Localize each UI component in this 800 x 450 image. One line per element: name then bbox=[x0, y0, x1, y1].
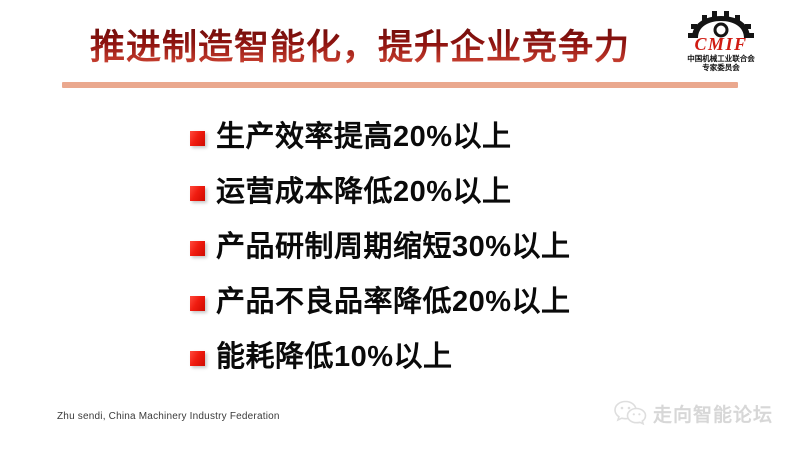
list-item: 生产效率提高20%以上 bbox=[190, 118, 750, 156]
red-square-bullet-icon bbox=[190, 351, 205, 366]
cmif-logo: CMIF 中国机械工业联合会 专家委员会 bbox=[672, 8, 770, 74]
list-item: 产品研制周期缩短30%以上 bbox=[190, 228, 750, 266]
wechat-icon bbox=[613, 398, 647, 428]
list-item: 能耗降低10%以上 bbox=[190, 338, 750, 376]
watermark-label: 走向智能论坛 bbox=[653, 400, 773, 427]
list-item-label: 运营成本降低20%以上 bbox=[216, 175, 512, 209]
list-item-label: 能耗降低10%以上 bbox=[216, 340, 453, 374]
logo-acronym: CMIF bbox=[694, 34, 747, 54]
list-item: 产品不良品率降低20%以上 bbox=[190, 283, 750, 321]
list-item-label: 产品不良品率降低20%以上 bbox=[216, 285, 571, 319]
list-item: 运营成本降低20%以上 bbox=[190, 173, 750, 211]
red-square-bullet-icon bbox=[190, 131, 205, 146]
red-square-bullet-icon bbox=[190, 186, 205, 201]
logo-org-line2: 专家委员会 bbox=[702, 62, 740, 72]
slide-canvas: 推进制造智能化，提升企业竞争力 CMIF 中国机械工业联合会 专家委员会 bbox=[0, 0, 800, 450]
logo-org-line1: 中国机械工业联合会 bbox=[687, 53, 755, 63]
list-item-label: 生产效率提高20%以上 bbox=[216, 120, 512, 154]
bullet-list: 生产效率提高20%以上 运营成本降低20%以上 产品研制周期缩短30%以上 产品… bbox=[190, 118, 750, 376]
list-item-label: 产品研制周期缩短30%以上 bbox=[216, 230, 571, 264]
title-divider bbox=[62, 82, 738, 88]
watermark: 走向智能论坛 bbox=[613, 398, 773, 428]
page-title: 推进制造智能化，提升企业竞争力 bbox=[0, 26, 720, 70]
footer-credit: Zhu sendi, China Machinery Industry Fede… bbox=[57, 411, 280, 422]
red-square-bullet-icon bbox=[190, 241, 205, 256]
red-square-bullet-icon bbox=[190, 296, 205, 311]
